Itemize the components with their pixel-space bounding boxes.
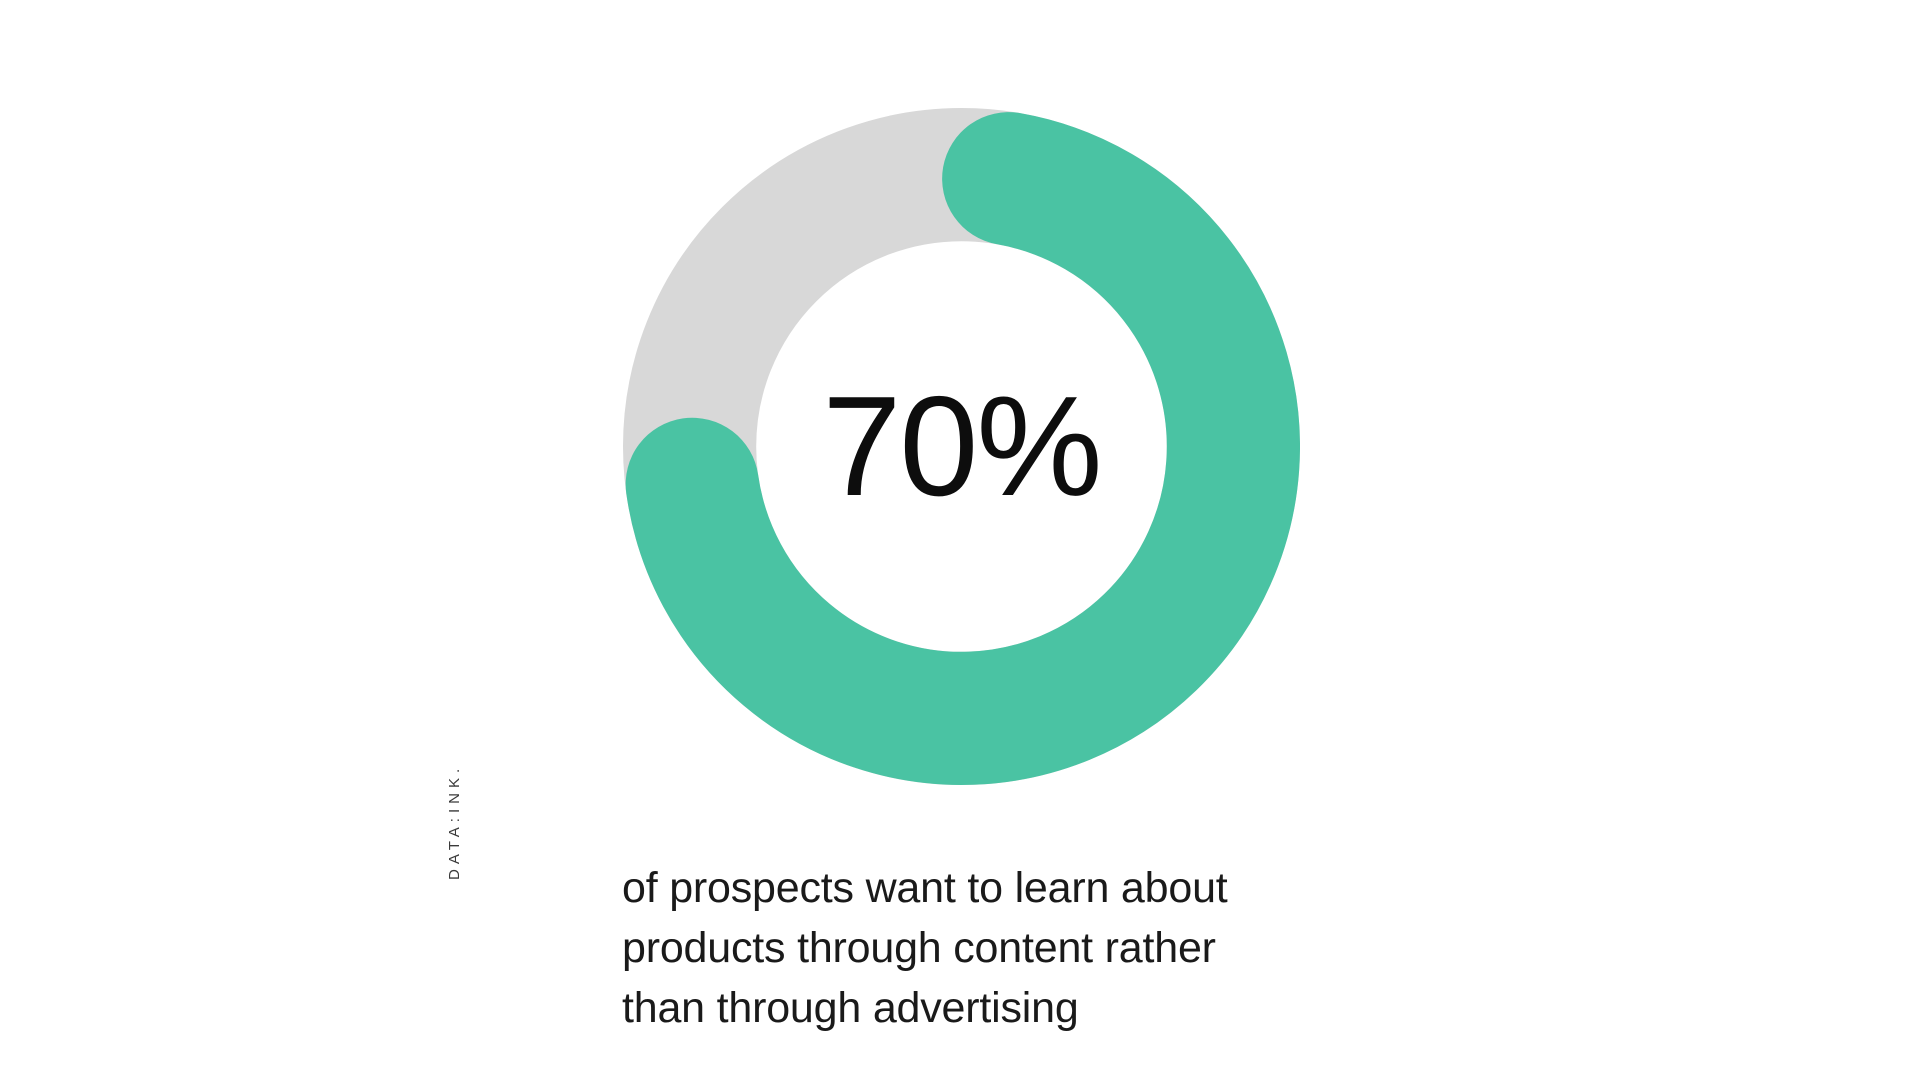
- caption-line-2: products through content rather: [622, 918, 1342, 978]
- donut-center-value: 70%: [623, 108, 1300, 785]
- caption-line-3: than through advertising: [622, 978, 1342, 1038]
- caption-line-1: of prospects want to learn about: [622, 858, 1342, 918]
- watermark-dataink: DATA:INK.: [440, 720, 470, 880]
- caption-block: of prospects want to learn about product…: [622, 858, 1342, 1038]
- infographic-canvas: 70% of prospects want to learn about pro…: [0, 0, 1920, 1080]
